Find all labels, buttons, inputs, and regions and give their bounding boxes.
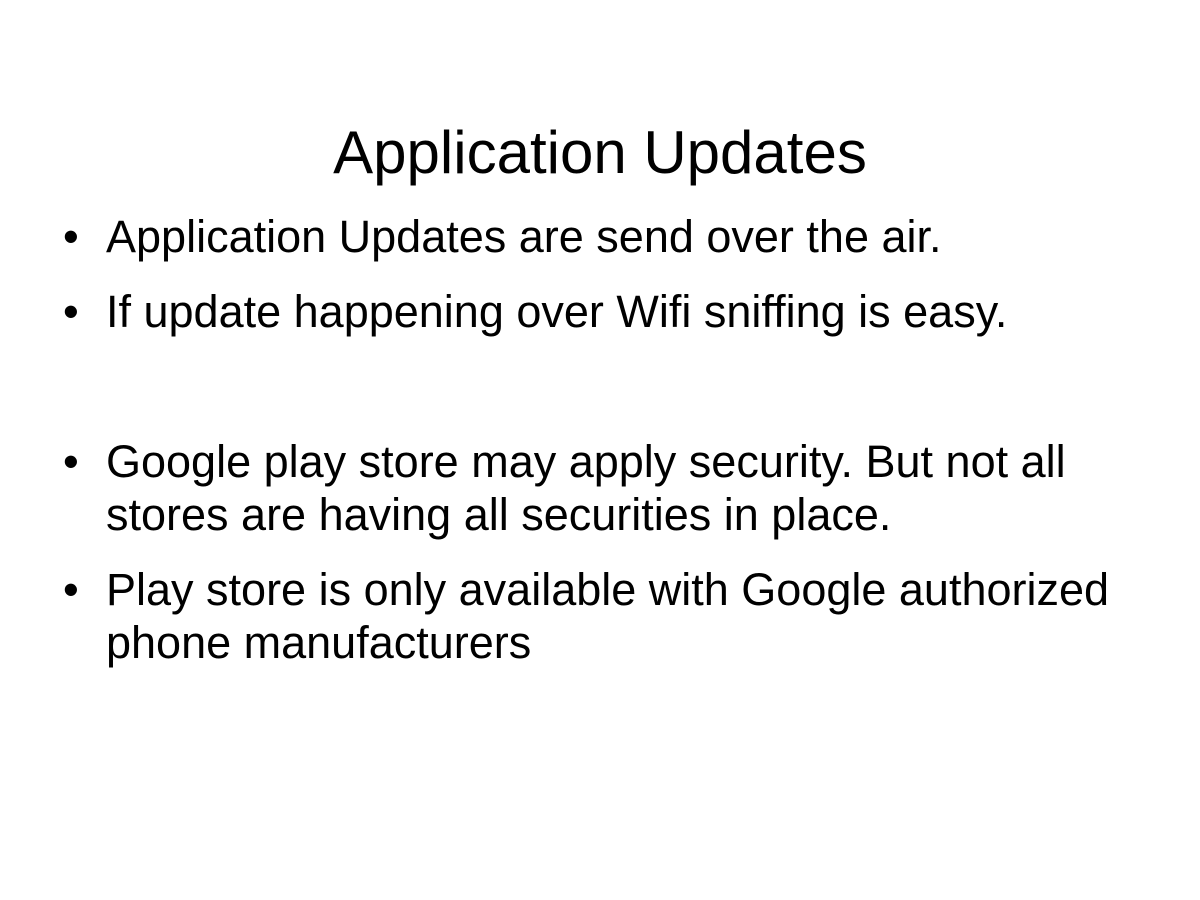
bullet-list: • Application Updates are send over the … [56, 210, 1116, 691]
list-item: • Application Updates are send over the … [56, 210, 1116, 263]
slide: Application Updates • Application Update… [0, 0, 1200, 900]
list-item: • If update happening over Wifi sniffing… [56, 285, 1116, 338]
list-item-text: Play store is only available with Google… [106, 563, 1116, 669]
bullet-marker-icon: • [63, 435, 87, 488]
list-item-spacer [56, 360, 1116, 413]
list-item-text: If update happening over Wifi sniffing i… [106, 285, 1116, 338]
page-title: Application Updates [0, 118, 1200, 188]
list-item: • Play store is only available with Goog… [56, 563, 1116, 669]
bullet-marker-icon: • [63, 285, 87, 338]
list-item-text: Application Updates are send over the ai… [106, 210, 1116, 263]
bullet-marker-icon: • [63, 210, 87, 263]
list-item: • Google play store may apply security. … [56, 435, 1116, 541]
bullet-marker-icon: • [63, 563, 87, 616]
list-item-text: Google play store may apply security. Bu… [106, 435, 1116, 541]
